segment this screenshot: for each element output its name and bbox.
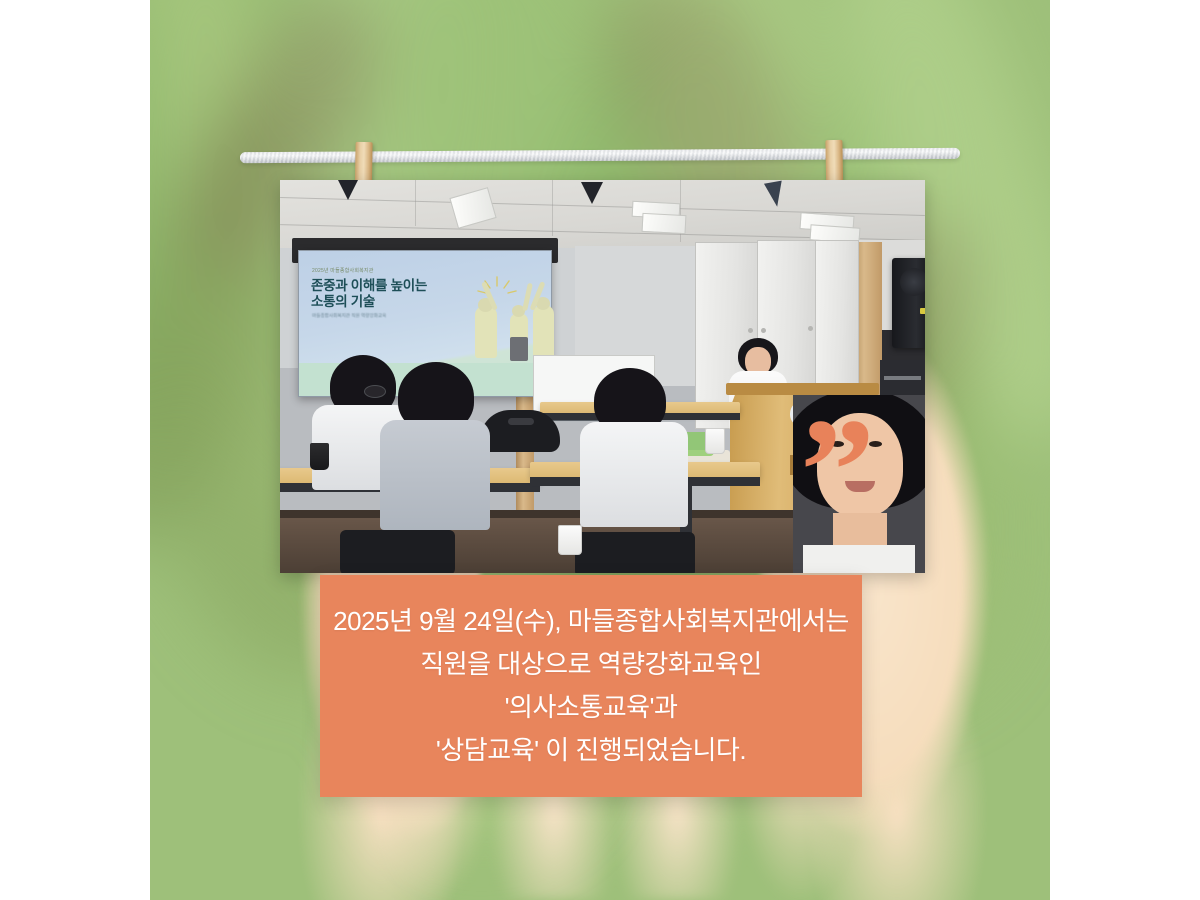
ceiling-lamp-1	[337, 180, 359, 200]
slide-eyebrow: 2025년 마들종합사회복지관	[312, 267, 374, 274]
attendee-2	[380, 362, 490, 527]
pa-speaker	[892, 258, 925, 348]
caption-box: 2025년 9월 24일(수), 마들종합사회복지관에서는 직원을 대상으로 역…	[320, 575, 862, 797]
quote-mark-icon: ”	[800, 448, 878, 532]
attendee-3	[580, 368, 688, 523]
quote-glyph: ”	[800, 396, 871, 546]
paper-cup-table	[558, 525, 582, 555]
ceiling-lamp-2	[581, 182, 603, 204]
card-stage: 2025년 마들종합사회복지관 존중과 이해를 높이는 소통의 기술 마들종합사…	[0, 0, 1200, 900]
slide-subtitle: 마들종합사회복지관 직원 역량강화교육	[312, 313, 386, 319]
slide-title: 존중과 이해를 높이는 소통의 기술	[311, 278, 427, 310]
chair-empty	[480, 410, 560, 452]
caption-text: 2025년 9월 24일(수), 마들종합사회복지관에서는 직원을 대상으로 역…	[333, 600, 849, 772]
tumbler-cup	[310, 443, 329, 470]
paper-cup-podium	[705, 428, 725, 454]
